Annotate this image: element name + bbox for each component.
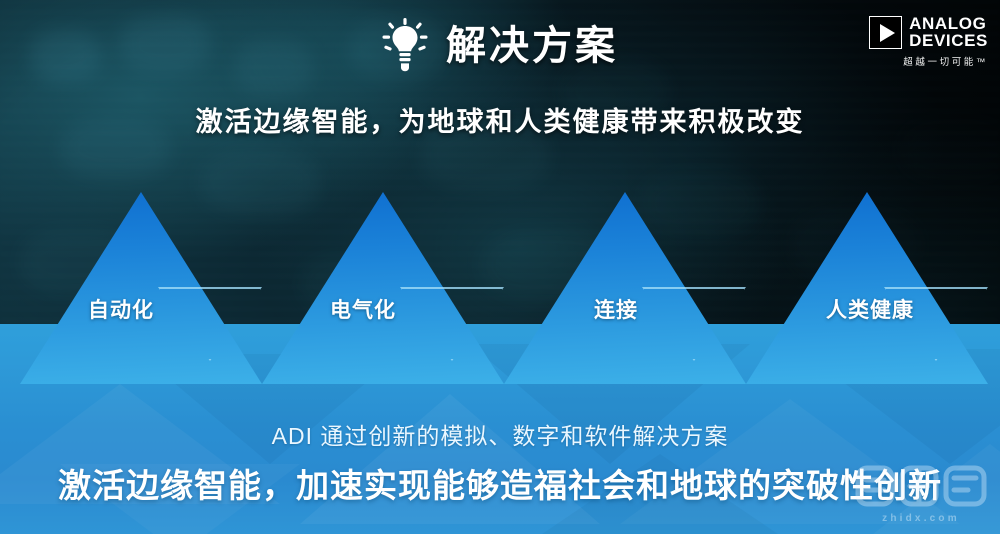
footer-lead-text: ADI 通过创新的模拟、数字和软件解决方案 <box>0 417 1000 451</box>
logo-line-devices: DEVICES <box>909 33 988 50</box>
pillars-group: 自动化 电气化 连接 人类健康 <box>0 0 1000 534</box>
adi-triangle-mark-icon <box>869 16 902 49</box>
pillar-label: 人类健康 <box>826 294 914 324</box>
pillar-label: 自动化 <box>88 294 154 324</box>
slide-canvas: 自动化 电气化 连接 人类健康 <box>0 0 1000 534</box>
pillar-label: 电气化 <box>330 294 396 324</box>
title-row: 解决方案 <box>0 18 1000 74</box>
page-title: 解决方案 <box>446 26 618 66</box>
adi-logo: ANALOG DEVICES 超越一切可能™ <box>869 16 988 68</box>
lightbulb-idea-icon <box>382 18 428 74</box>
footer-headline: 激活边缘智能，加速实现能够造福社会和地球的突破性创新 <box>0 459 1000 507</box>
page-subtitle: 激活边缘智能，为地球和人类健康带来积极改变 <box>0 100 1000 139</box>
logo-tagline: 超越一切可能™ <box>903 54 988 68</box>
pillar-label: 连接 <box>594 294 638 324</box>
